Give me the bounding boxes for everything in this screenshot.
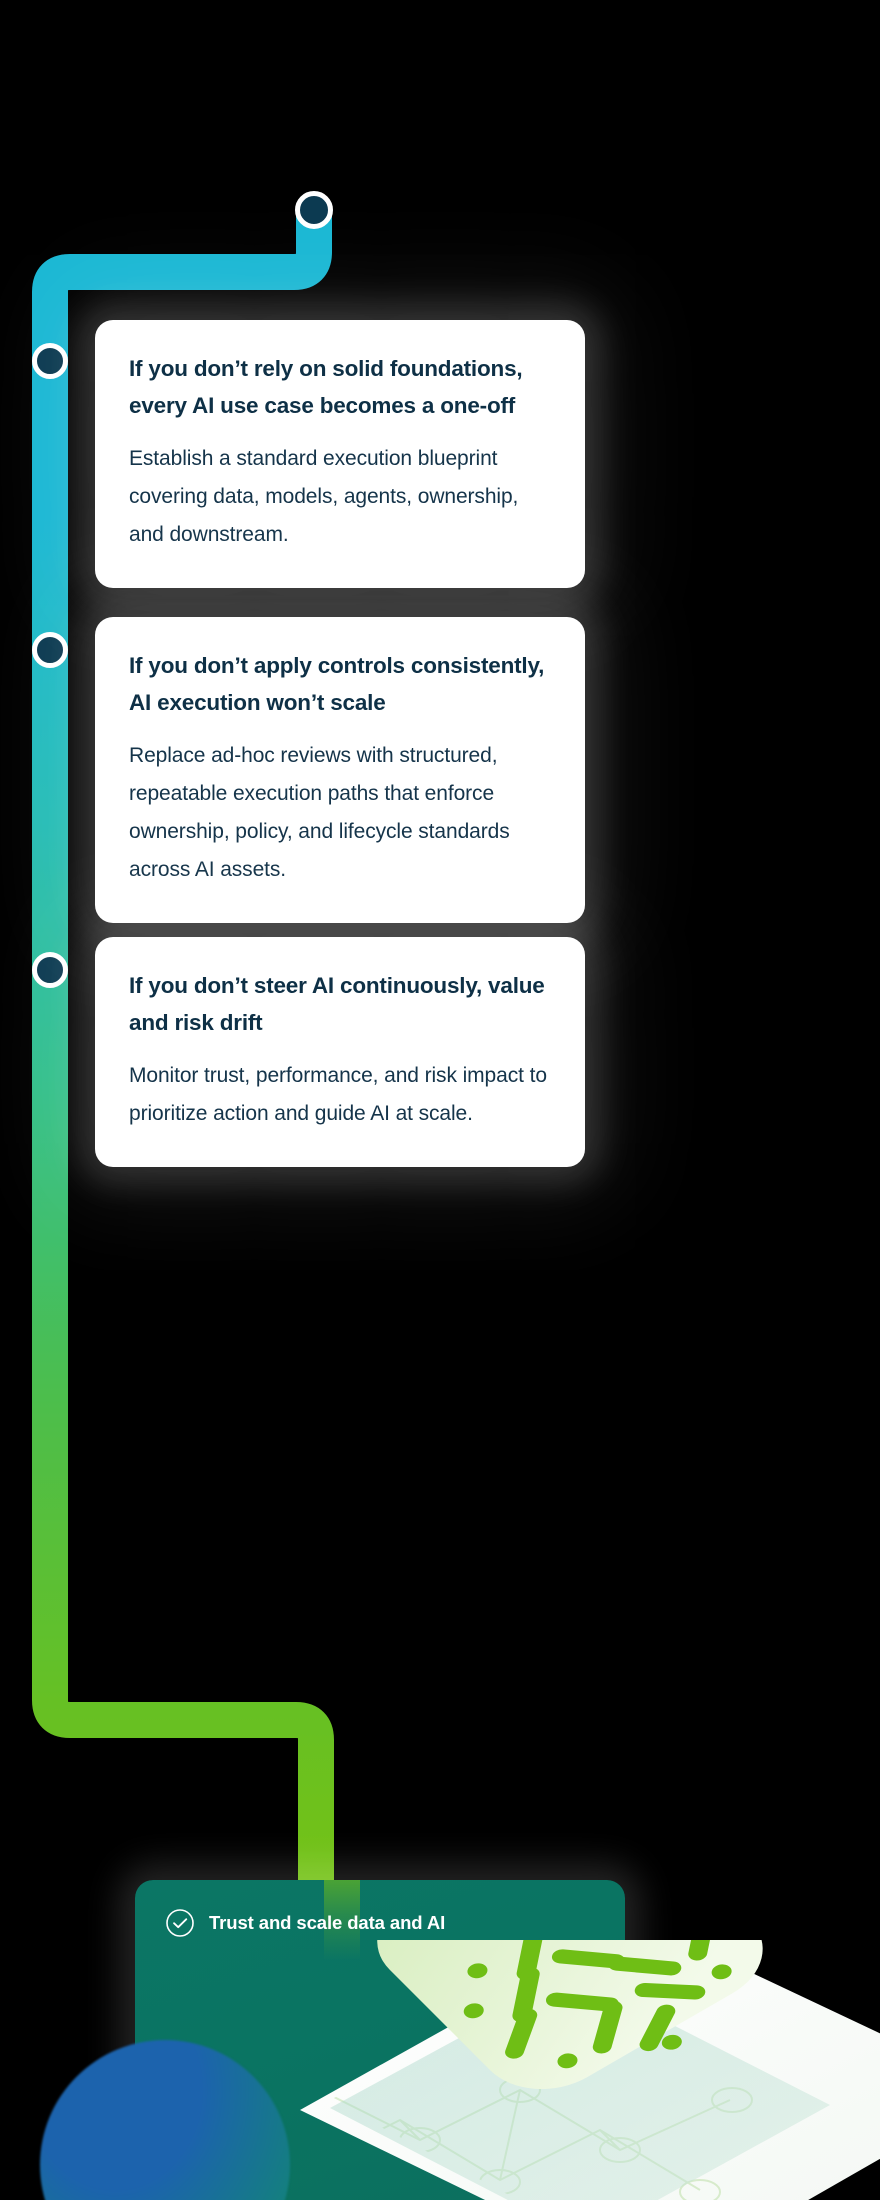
card-1-heading: If you don’t rely on solid foundations, … <box>129 350 551 424</box>
card-3-heading: If you don’t steer AI continuously, valu… <box>129 967 551 1041</box>
timeline-card-2: If you don’t apply controls consistently… <box>95 617 585 923</box>
timeline-infographic: If you don’t rely on solid foundations, … <box>0 0 880 2200</box>
timeline-card-3: If you don’t steer AI continuously, valu… <box>95 937 585 1167</box>
card-1-body: Establish a standard execution blueprint… <box>129 440 551 554</box>
isometric-illustration <box>0 1940 880 2200</box>
card-2-body: Replace ad-hoc reviews with structured, … <box>129 737 551 889</box>
panel-header: Trust and scale data and AI <box>135 1880 625 1938</box>
node-1 <box>32 343 68 379</box>
start-node <box>295 191 333 229</box>
card-2-heading: If you don’t apply controls consistently… <box>129 647 551 721</box>
check-circle-icon <box>165 1908 195 1938</box>
panel-label: Trust and scale data and AI <box>209 1912 445 1934</box>
timeline-card-1: If you don’t rely on solid foundations, … <box>95 320 585 588</box>
card-3-body: Monitor trust, performance, and risk imp… <box>129 1057 551 1133</box>
node-2 <box>32 632 68 668</box>
node-3 <box>32 952 68 988</box>
